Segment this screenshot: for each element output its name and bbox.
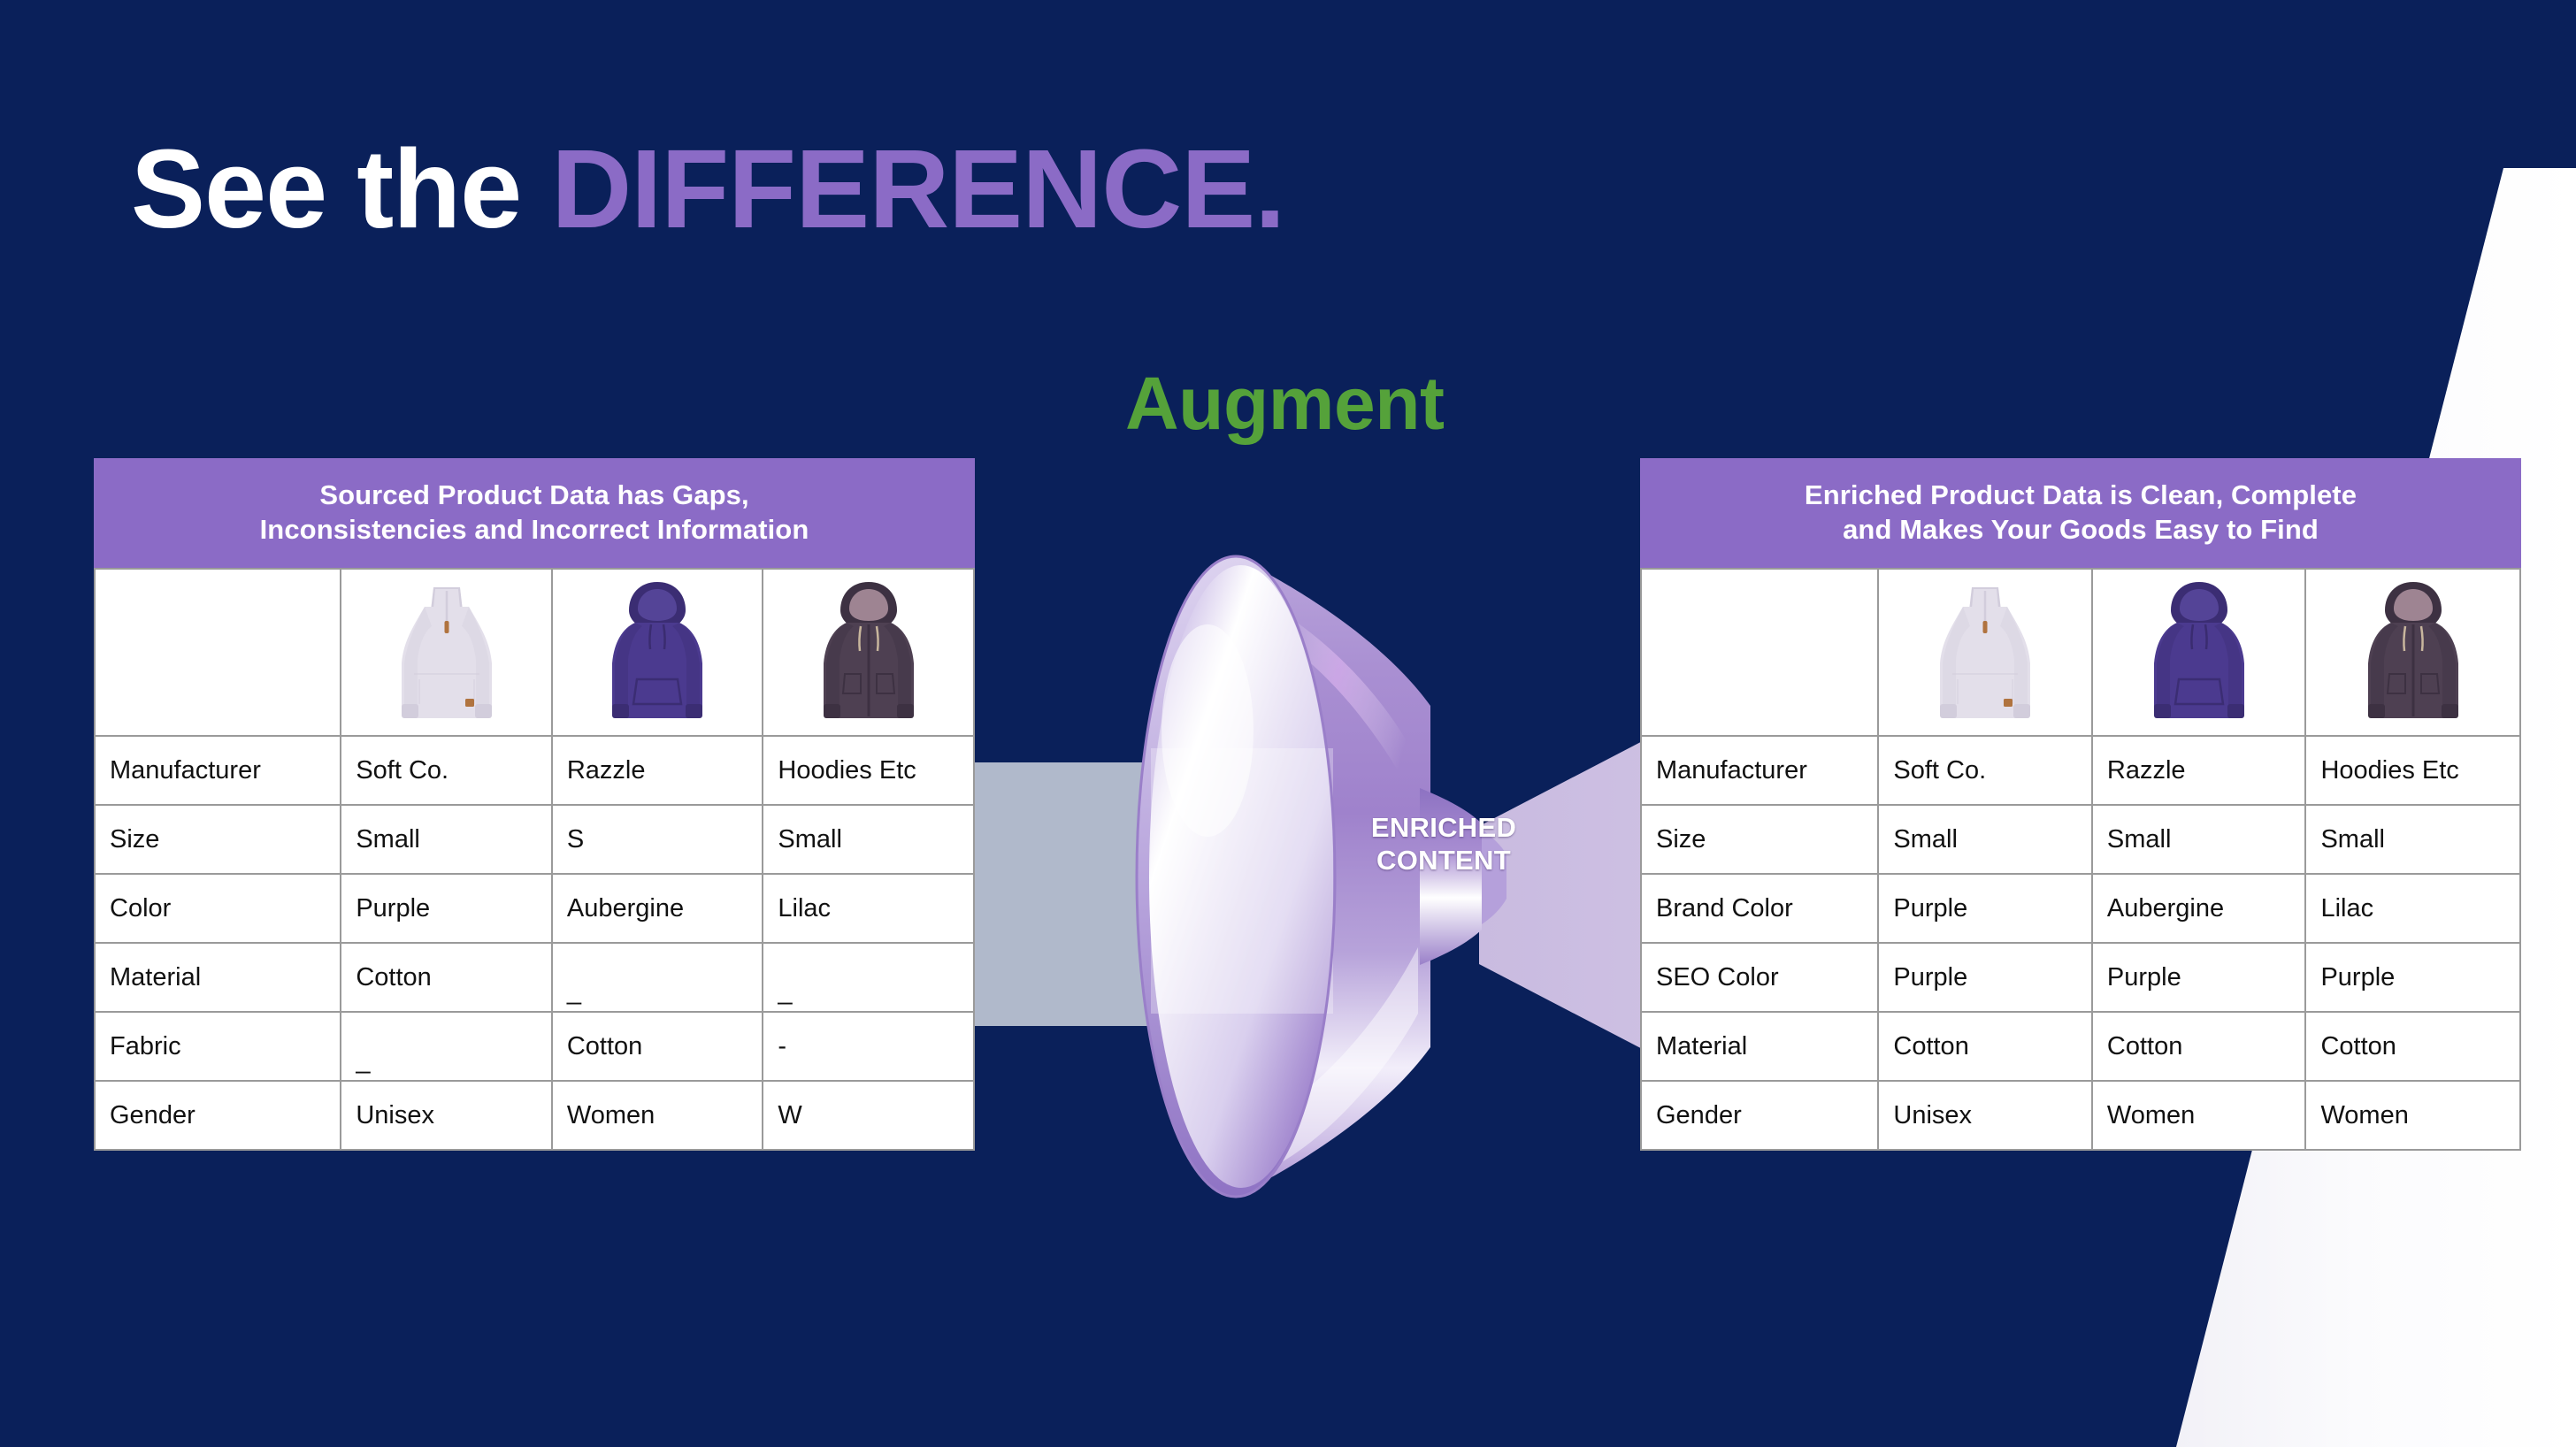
row-value-cell: Lilac: [763, 874, 974, 943]
enriched-data-panel: Enriched Product Data is Clean, Complete…: [1640, 458, 2521, 1151]
row-label-cell: Size: [1641, 805, 1878, 874]
enriched-table-body: ManufacturerSoft Co.RazzleHoodies EtcSiz…: [1641, 569, 2520, 1150]
row-value-cell: Purple: [1878, 943, 2092, 1012]
page-title: See the DIFFERENCE.: [131, 131, 1284, 248]
row-value-cell: Unisex: [341, 1081, 552, 1150]
sourced-data-panel: Sourced Product Data has Gaps, Inconsist…: [94, 458, 975, 1151]
row-label-cell: Size: [95, 805, 341, 874]
row-label-cell: Manufacturer: [95, 736, 341, 805]
row-value-cell: Purple: [2092, 943, 2306, 1012]
row-label-cell: Color: [95, 874, 341, 943]
row-value-cell: Razzle: [552, 736, 763, 805]
sourced-data-panel-title: Sourced Product Data has Gaps, Inconsist…: [94, 458, 975, 568]
row-label-cell: SEO Color: [1641, 943, 1878, 1012]
row-value-cell: Small: [1878, 805, 2092, 874]
row-value-cell: Hoodies Etc: [763, 736, 974, 805]
plum-zip-up-hoodie-icon: [767, 575, 970, 730]
lavender-quarter-zip-pullover-icon: [345, 575, 548, 730]
row-value-cell: Cotton: [2092, 1012, 2306, 1081]
row-value-cell: _: [763, 943, 974, 1012]
row-value-cell: Lilac: [2305, 874, 2520, 943]
table-row: SizeSmallSSmall: [95, 805, 974, 874]
row-value-cell: Purple: [1878, 874, 2092, 943]
row-value-cell: Purple: [341, 874, 552, 943]
product-image-cell: [1878, 569, 2092, 736]
table-row: ManufacturerSoft Co.RazzleHoodies Etc: [95, 736, 974, 805]
row-value-cell: Soft Co.: [341, 736, 552, 805]
table-row: ColorPurpleAubergineLilac: [95, 874, 974, 943]
row-value-cell: W: [763, 1081, 974, 1150]
sourced-title-line1: Sourced Product Data has Gaps,: [106, 478, 962, 512]
row-value-cell: Women: [2305, 1081, 2520, 1150]
row-value-cell: Cotton: [1878, 1012, 2092, 1081]
corner-cell: [1641, 569, 1878, 736]
row-value-cell: Hoodies Etc: [2305, 736, 2520, 805]
product-image-row: [1641, 569, 2520, 736]
product-image-row: [95, 569, 974, 736]
row-label-cell: Brand Color: [1641, 874, 1878, 943]
purple-pullover-hoodie-icon: [556, 575, 759, 730]
table-row: GenderUnisexWomenW: [95, 1081, 974, 1150]
row-value-cell: Cotton: [552, 1012, 763, 1081]
table-row: MaterialCottonCottonCotton: [1641, 1012, 2520, 1081]
product-image-cell: [341, 569, 552, 736]
slide-canvas: See the DIFFERENCE. Augment: [0, 0, 2576, 1447]
product-image-cell: [763, 569, 974, 736]
row-value-cell: Small: [763, 805, 974, 874]
row-value-cell: Purple: [2305, 943, 2520, 1012]
product-image-cell: [2092, 569, 2306, 736]
title-part-see-the: See the: [131, 126, 551, 251]
row-value-cell: Aubergine: [552, 874, 763, 943]
row-label-cell: Gender: [1641, 1081, 1878, 1150]
row-value-cell: Small: [341, 805, 552, 874]
product-image-cell: [2305, 569, 2520, 736]
row-label-cell: Fabric: [95, 1012, 341, 1081]
row-value-cell: -: [763, 1012, 974, 1081]
row-value-cell: Women: [552, 1081, 763, 1150]
table-row: ManufacturerSoft Co.RazzleHoodies Etc: [1641, 736, 2520, 805]
row-label-cell: Manufacturer: [1641, 736, 1878, 805]
row-value-cell: Aubergine: [2092, 874, 2306, 943]
enriched-data-panel-title: Enriched Product Data is Clean, Complete…: [1640, 458, 2521, 568]
row-value-cell: Small: [2305, 805, 2520, 874]
row-value-cell: Cotton: [2305, 1012, 2520, 1081]
row-value-cell: _: [552, 943, 763, 1012]
table-row: SizeSmallSmallSmall: [1641, 805, 2520, 874]
sourced-data-table: ManufacturerSoft Co.RazzleHoodies EtcSiz…: [94, 568, 975, 1151]
enriched-data-table: ManufacturerSoft Co.RazzleHoodies EtcSiz…: [1640, 568, 2521, 1151]
row-value-cell: S: [552, 805, 763, 874]
enriched-title-line1: Enriched Product Data is Clean, Complete: [1652, 478, 2509, 512]
augment-label: Augment: [1125, 361, 1444, 447]
row-value-cell: Cotton: [341, 943, 552, 1012]
sourced-title-line2: Inconsistencies and Incorrect Informatio…: [106, 512, 962, 547]
enriched-title-line2: and Makes Your Goods Easy to Find: [1652, 512, 2509, 547]
table-row: MaterialCotton__: [95, 943, 974, 1012]
sourced-table-body: ManufacturerSoft Co.RazzleHoodies EtcSiz…: [95, 569, 974, 1150]
plum-zip-up-hoodie-icon: [2310, 575, 2516, 730]
row-value-cell: Women: [2092, 1081, 2306, 1150]
row-label-cell: Gender: [95, 1081, 341, 1150]
row-label-cell: Material: [1641, 1012, 1878, 1081]
row-value-cell: Soft Co.: [1878, 736, 2092, 805]
table-row: Fabric_Cotton-: [95, 1012, 974, 1081]
purple-pullover-hoodie-icon: [2097, 575, 2302, 730]
row-value-cell: Small: [2092, 805, 2306, 874]
row-value-cell: _: [341, 1012, 552, 1081]
funnel-label-line2: CONTENT: [1376, 845, 1511, 876]
table-row: SEO ColorPurplePurplePurple: [1641, 943, 2520, 1012]
table-row: GenderUnisexWomenWomen: [1641, 1081, 2520, 1150]
table-row: Brand ColorPurpleAubergineLilac: [1641, 874, 2520, 943]
row-label-cell: Material: [95, 943, 341, 1012]
title-part-difference: DIFFERENCE.: [551, 126, 1284, 251]
product-image-cell: [552, 569, 763, 736]
row-value-cell: Razzle: [2092, 736, 2306, 805]
row-value-cell: Unisex: [1878, 1081, 2092, 1150]
corner-cell: [95, 569, 341, 736]
lavender-quarter-zip-pullover-icon: [1882, 575, 2088, 730]
funnel-label: ENRICHED CONTENT: [1338, 812, 1550, 877]
funnel-label-line1: ENRICHED: [1371, 812, 1516, 843]
